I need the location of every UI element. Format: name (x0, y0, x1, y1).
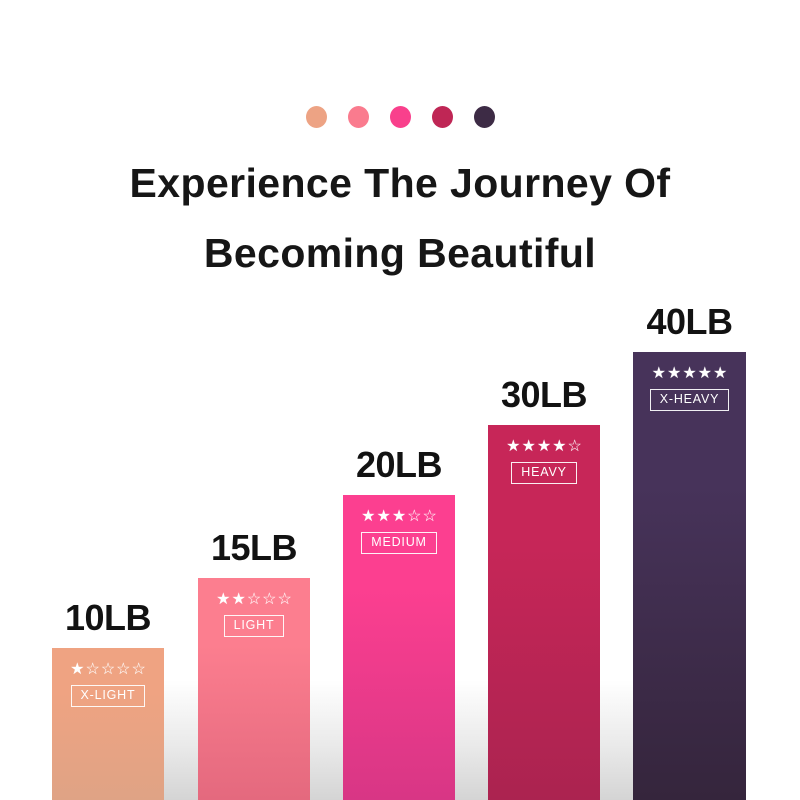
star-empty-icon: ☆ (278, 592, 292, 608)
bar-column: 15LB★★☆☆☆LIGHT (198, 522, 310, 800)
bar-weight-label: 15LB (198, 530, 310, 566)
resistance-bar-chart: 10LB★☆☆☆☆X-LIGHT15LB★★☆☆☆LIGHT20LB★★★☆☆M… (0, 0, 800, 800)
star-rating: ★☆☆☆☆ (70, 662, 146, 678)
star-rating: ★★☆☆☆ (216, 592, 292, 608)
bar-weight-label: 20LB (343, 447, 455, 483)
resistance-level-badge: MEDIUM (361, 532, 437, 554)
resistance-bar: ★★★☆☆MEDIUM (343, 495, 455, 800)
star-empty-icon: ☆ (407, 509, 421, 525)
star-rating: ★★★★★ (652, 366, 728, 382)
bar-gap-shadow (455, 680, 488, 800)
star-filled-icon: ★ (713, 366, 727, 382)
star-empty-icon: ☆ (423, 509, 437, 525)
star-filled-icon: ★ (231, 592, 245, 608)
resistance-bar: ★☆☆☆☆X-LIGHT (52, 648, 164, 800)
star-filled-icon: ★ (392, 509, 406, 525)
star-filled-icon: ★ (652, 366, 666, 382)
star-empty-icon: ☆ (568, 439, 582, 455)
bar-column: 40LB★★★★★X-HEAVY (633, 296, 746, 800)
bar-rating-group: ★★★☆☆MEDIUM (343, 509, 455, 554)
star-filled-icon: ★ (698, 366, 712, 382)
star-empty-icon: ☆ (85, 662, 99, 678)
star-empty-icon: ☆ (116, 662, 130, 678)
star-empty-icon: ☆ (247, 592, 261, 608)
bar-weight-label: 10LB (52, 600, 164, 636)
star-filled-icon: ★ (506, 439, 520, 455)
resistance-level-badge: X-LIGHT (71, 685, 146, 707)
star-empty-icon: ☆ (101, 662, 115, 678)
bar-gap-shadow (310, 680, 343, 800)
star-empty-icon: ☆ (132, 662, 146, 678)
bar-rating-group: ★☆☆☆☆X-LIGHT (52, 662, 164, 707)
star-filled-icon: ★ (537, 439, 551, 455)
star-rating: ★★★★☆ (506, 439, 582, 455)
star-empty-icon: ☆ (262, 592, 276, 608)
product-infographic: Experience The Journey Of Becoming Beaut… (0, 0, 800, 800)
resistance-bar: ★★★★☆HEAVY (488, 425, 600, 800)
bar-column: 30LB★★★★☆HEAVY (488, 369, 600, 800)
star-filled-icon: ★ (682, 366, 696, 382)
resistance-level-badge: X-HEAVY (650, 389, 730, 411)
star-filled-icon: ★ (361, 509, 375, 525)
resistance-bar: ★★★★★X-HEAVY (633, 352, 746, 800)
bar-column: 20LB★★★☆☆MEDIUM (343, 439, 455, 800)
star-filled-icon: ★ (70, 662, 84, 678)
star-filled-icon: ★ (376, 509, 390, 525)
bar-gap-shadow (164, 680, 198, 800)
bar-rating-group: ★★★★★X-HEAVY (633, 366, 746, 411)
bar-column: 10LB★☆☆☆☆X-LIGHT (52, 592, 164, 800)
bar-weight-label: 30LB (488, 377, 600, 413)
bar-rating-group: ★★☆☆☆LIGHT (198, 592, 310, 637)
star-filled-icon: ★ (667, 366, 681, 382)
star-filled-icon: ★ (521, 439, 535, 455)
resistance-level-badge: LIGHT (224, 615, 285, 637)
resistance-level-badge: HEAVY (511, 462, 576, 484)
bar-gap-shadow (600, 680, 633, 800)
star-filled-icon: ★ (216, 592, 230, 608)
bar-weight-label: 40LB (633, 304, 746, 340)
resistance-bar: ★★☆☆☆LIGHT (198, 578, 310, 800)
bar-rating-group: ★★★★☆HEAVY (488, 439, 600, 484)
star-rating: ★★★☆☆ (361, 509, 437, 525)
star-filled-icon: ★ (552, 439, 566, 455)
